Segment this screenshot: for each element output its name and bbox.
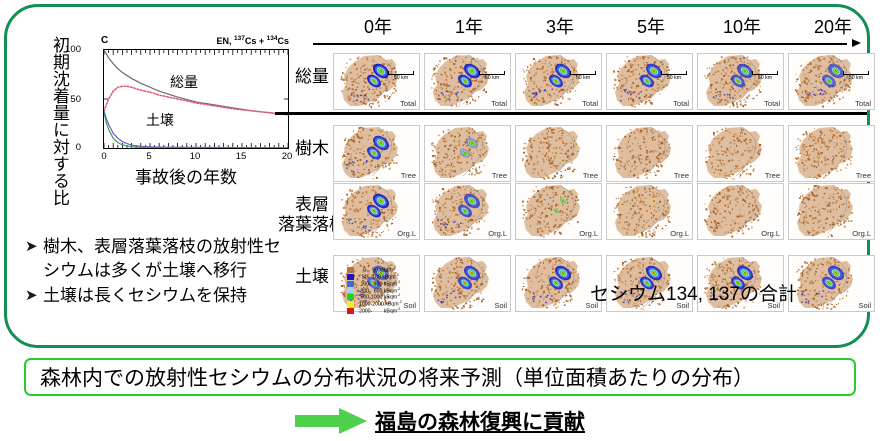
map-cell-tag: Tree [765, 171, 780, 180]
column-header-5y: 5年 [606, 13, 696, 39]
bullet-text: 土壌は長くセシウムを保持 [43, 284, 247, 308]
map-scale-bar: 50 km [752, 71, 778, 81]
chart-x-axis-label: 事故後の年数 [75, 163, 297, 188]
map-matrix-panel: 0年 1年 3年 5年 10年 20年 総量 樹木 表層 落葉落枝 土壌 50 … [275, 11, 873, 351]
map-cell-tag: Tree [492, 171, 507, 180]
map-cell-tag: Tree [583, 171, 598, 180]
legend-swatch [347, 274, 354, 280]
map-cell-tag: Org.L [397, 229, 416, 238]
map-scale-bar: 50 km [570, 71, 596, 81]
map-cell: Soil [788, 255, 875, 312]
legend-swatch [347, 287, 354, 293]
map-cell: Tree [606, 125, 693, 182]
column-header-20y: 20年 [788, 13, 878, 39]
legend-swatch [347, 267, 354, 273]
map-scale-bar: 50 km [479, 71, 505, 81]
x-tick-15: 15 [231, 151, 251, 162]
left-panel: 初期沈着量に対する比 C EN, 137Cs + 134Cs 100 50 0 … [17, 13, 297, 349]
map-cell: Tree [697, 125, 784, 182]
map-scale-label: 50 km [843, 75, 869, 81]
bullet-marker-icon: ➤ [25, 284, 43, 307]
legend-row: 2000- kBqm-2 [347, 308, 457, 314]
map-scale-label: 50 km [388, 75, 414, 81]
chart-panel-letter: C [101, 35, 108, 46]
x-tick-10: 10 [185, 151, 205, 162]
map-scale-bar: 50 km [388, 71, 414, 81]
chart-label-soil: 土壌 [146, 110, 174, 130]
map-scale-bar: 50 km [661, 71, 687, 81]
map-cell-tag: Tree [674, 171, 689, 180]
summary-banner-text: 森林内での放射性セシウムの分布状況の将来予測（単位面積あたりの分布） [40, 362, 754, 392]
bullet-text: 樹木、表層落葉落枝の放射性セシウムは多くが土壌へ移行 [43, 235, 293, 282]
map-scale-label: 50 km [752, 75, 778, 81]
chart-series-樹木 [104, 111, 288, 148]
right-arrow-icon [295, 408, 367, 434]
bullet-marker-icon: ➤ [25, 235, 43, 258]
map-cell-tag: Org.L [761, 229, 780, 238]
map-cell-tag: Total [582, 99, 598, 108]
chart-series-表層落葉落枝 [104, 113, 288, 148]
map-cell-tag: Org.L [488, 229, 507, 238]
chart-header: C EN, 137Cs + 134Cs [75, 35, 297, 49]
map-cell-tag: Soil [494, 301, 507, 310]
map-cell: Org.L [788, 183, 875, 240]
map-scale-label: 50 km [570, 75, 596, 81]
map-cell-tag: Total [764, 99, 780, 108]
map-cell: Org.L [333, 183, 420, 240]
map-scale-label: 50 km [661, 75, 687, 81]
map-cell: Tree [788, 125, 875, 182]
y-tick-0: 0 [51, 142, 81, 153]
legend-label: 2000- kBqm-2 [359, 307, 400, 315]
map-cell: Org.L [424, 183, 511, 240]
legend-swatch [347, 281, 354, 287]
legend-swatch [347, 294, 354, 300]
map-cell: Soil [515, 255, 602, 312]
map-cell-tag: Tree [401, 171, 416, 180]
conclusion-row: 福島の森林復興に貢献 [0, 404, 880, 438]
legend-swatch [347, 308, 354, 314]
x-tick-5: 5 [139, 151, 159, 162]
map-cell: 50 kmTotal [333, 53, 420, 110]
content-frame: 初期沈着量に対する比 C EN, 137Cs + 134Cs 100 50 0 … [4, 4, 870, 348]
map-cell: Tree [333, 125, 420, 182]
y-tick-100: 100 [51, 44, 81, 55]
conclusion-text: 福島の森林復興に貢献 [375, 406, 585, 436]
column-header-1y: 1年 [424, 13, 514, 39]
chart-plot-area: 総量 土壌 [103, 49, 289, 149]
map-cell-tag: Total [855, 99, 871, 108]
map-cell-tag: Org.L [579, 229, 598, 238]
column-header-0y: 0年 [333, 13, 423, 39]
map-column-headers: 0年 1年 3年 5年 10年 20年 [333, 13, 873, 39]
x-tick-0: 0 [94, 151, 114, 162]
map-cell-tag: Total [491, 99, 507, 108]
map-cell: Org.L [697, 183, 784, 240]
summary-banner: 森林内での放射性セシウムの分布状況の将来予測（単位面積あたりの分布） [24, 358, 856, 396]
map-cell: Tree [515, 125, 602, 182]
column-header-10y: 10年 [697, 13, 787, 39]
chart-plot-wrapper: 100 50 0 総量 土壌 0 5 10 15 20 [75, 49, 297, 159]
map-cell-tag: Tree [856, 171, 871, 180]
map-cell-tag: Total [673, 99, 689, 108]
map-cell: 50 kmTotal [424, 53, 511, 110]
map-cell: Tree [424, 125, 511, 182]
map-cell-tag: Total [400, 99, 416, 108]
map-cell: Org.L [606, 183, 693, 240]
map-legend: 0- 50 kBqm-2 50- 100 kBqm-2 100- 300 kBq… [347, 267, 457, 314]
map-cell: 50 kmTotal [788, 53, 875, 110]
y-tick-50: 50 [51, 94, 81, 105]
list-item: ➤ 樹木、表層落葉落枝の放射性セシウムは多くが土壌へ移行 [25, 235, 293, 282]
map-cell-tag: Org.L [852, 229, 871, 238]
timeline-arrow-icon [313, 39, 861, 49]
list-item: ➤ 土壌は長くセシウムを保持 [25, 284, 293, 308]
map-cell: 50 kmTotal [515, 53, 602, 110]
section-divider [275, 112, 867, 115]
map-scale-bar: 50 km [843, 71, 869, 81]
map-scale-label: 50 km [479, 75, 505, 81]
map-cell-tag: Soil [858, 301, 871, 310]
map-cell-tag: Org.L [670, 229, 689, 238]
chart-curves [104, 50, 288, 148]
map-caption: セシウム134, 137の合計 [590, 279, 797, 306]
bullet-list: ➤ 樹木、表層落葉落枝の放射性セシウムは多くが土壌へ移行 ➤ 土壌は長くセシウム… [25, 235, 293, 310]
column-header-3y: 3年 [515, 13, 605, 39]
map-cell: 50 kmTotal [606, 53, 693, 110]
map-cell: Org.L [515, 183, 602, 240]
legend-swatch [347, 301, 354, 307]
map-cell: 50 kmTotal [697, 53, 784, 110]
chart-label-total: 総量 [170, 72, 198, 92]
